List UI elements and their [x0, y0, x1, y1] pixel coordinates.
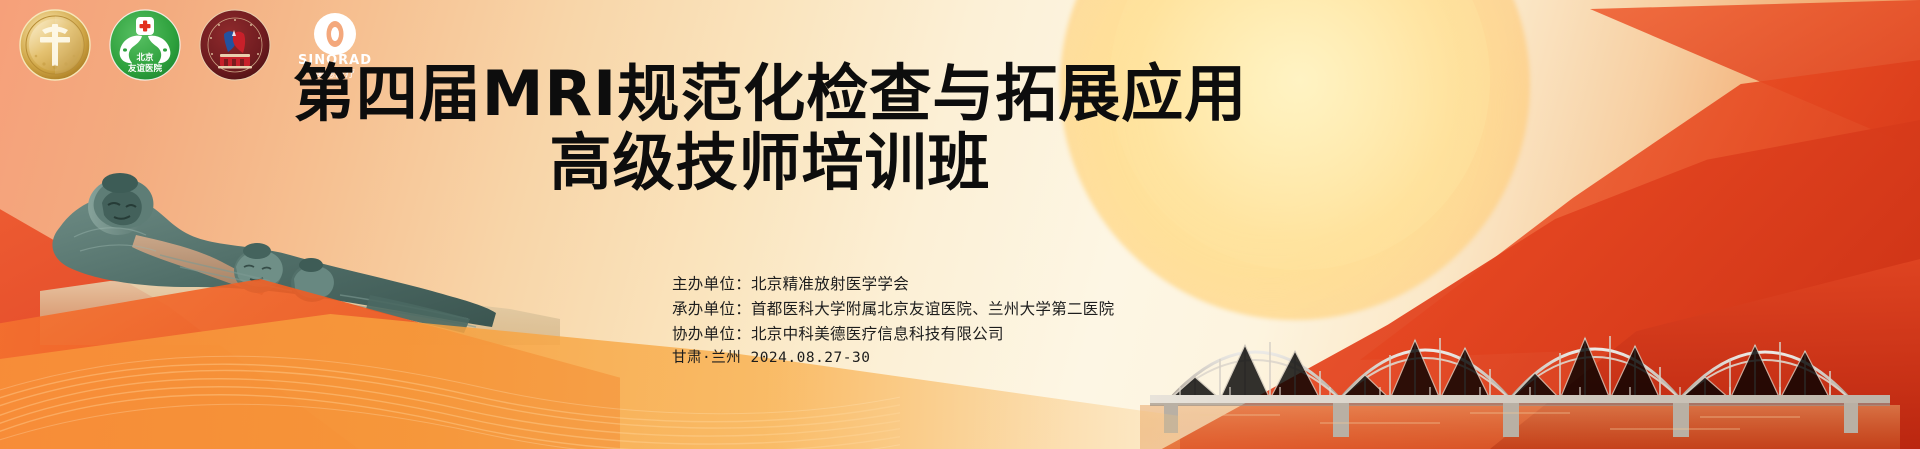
- info-co-organizer: 协办单位：北京中科美德医疗信息科技有限公司: [672, 322, 1114, 347]
- conference-banner: 北京 友谊医院: [0, 0, 1920, 449]
- info-organizer: 主办单位：北京精准放射医学学会: [672, 272, 1114, 297]
- info-place-date: 甘肃·兰州 2024.08.27-30: [672, 347, 1114, 370]
- info-host: 承办单位：首都医科大学附属北京友谊医院、兰州大学第二医院: [672, 297, 1114, 322]
- banner-title-line2: 高级技师培训班: [0, 131, 1540, 194]
- banner-info-block: 主办单位：北京精准放射医学学会 承办单位：首都医科大学附属北京友谊医院、兰州大学…: [672, 272, 1114, 371]
- zhongshan-iron-bridge-illustration: [1140, 209, 1900, 449]
- banner-title-block: 第四届MRI规范化检查与拓展应用 高级技师培训班: [0, 62, 1540, 194]
- banner-title-line1: 第四届MRI规范化检查与拓展应用: [0, 62, 1540, 125]
